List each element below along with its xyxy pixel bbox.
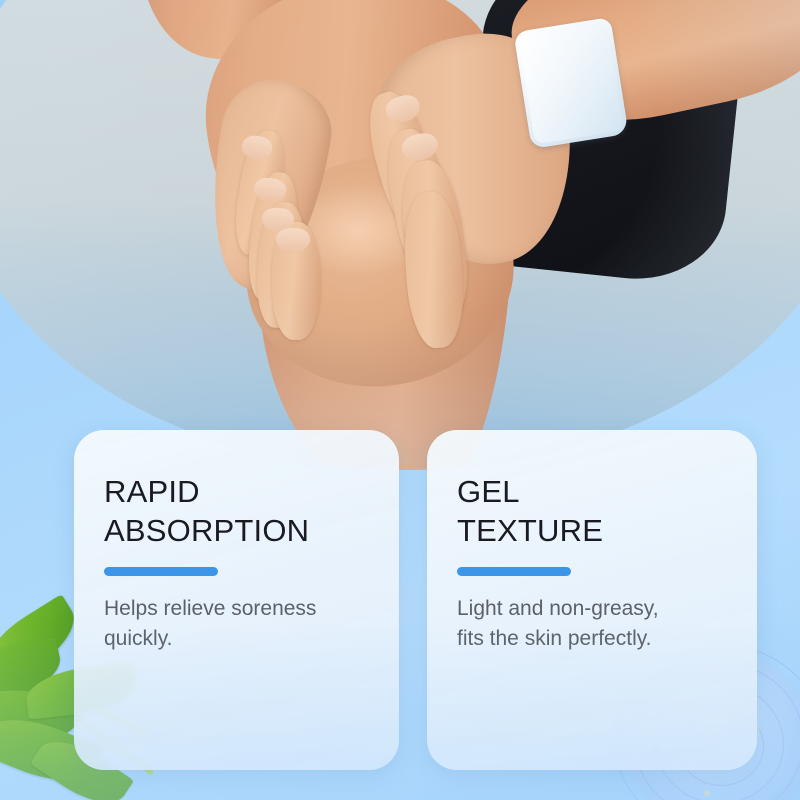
feature-card-rapid-absorption: RAPID ABSORPTION Helps relieve soreness …: [74, 430, 399, 770]
feature-card-body: Helps relieve soreness quickly.: [104, 594, 369, 654]
feature-card-title: GEL TEXTURE: [457, 472, 727, 550]
feature-cards: RAPID ABSORPTION Helps relieve soreness …: [0, 0, 800, 800]
feature-card-title: RAPID ABSORPTION: [104, 472, 369, 550]
feature-card-body: Light and non-greasy, fits the skin perf…: [457, 594, 727, 654]
accent-bar: [457, 567, 571, 576]
accent-bar: [104, 567, 218, 576]
feature-card-gel-texture: GEL TEXTURE Light and non-greasy, fits t…: [427, 430, 757, 770]
infographic-canvas: RAPID ABSORPTION Helps relieve soreness …: [0, 0, 800, 800]
